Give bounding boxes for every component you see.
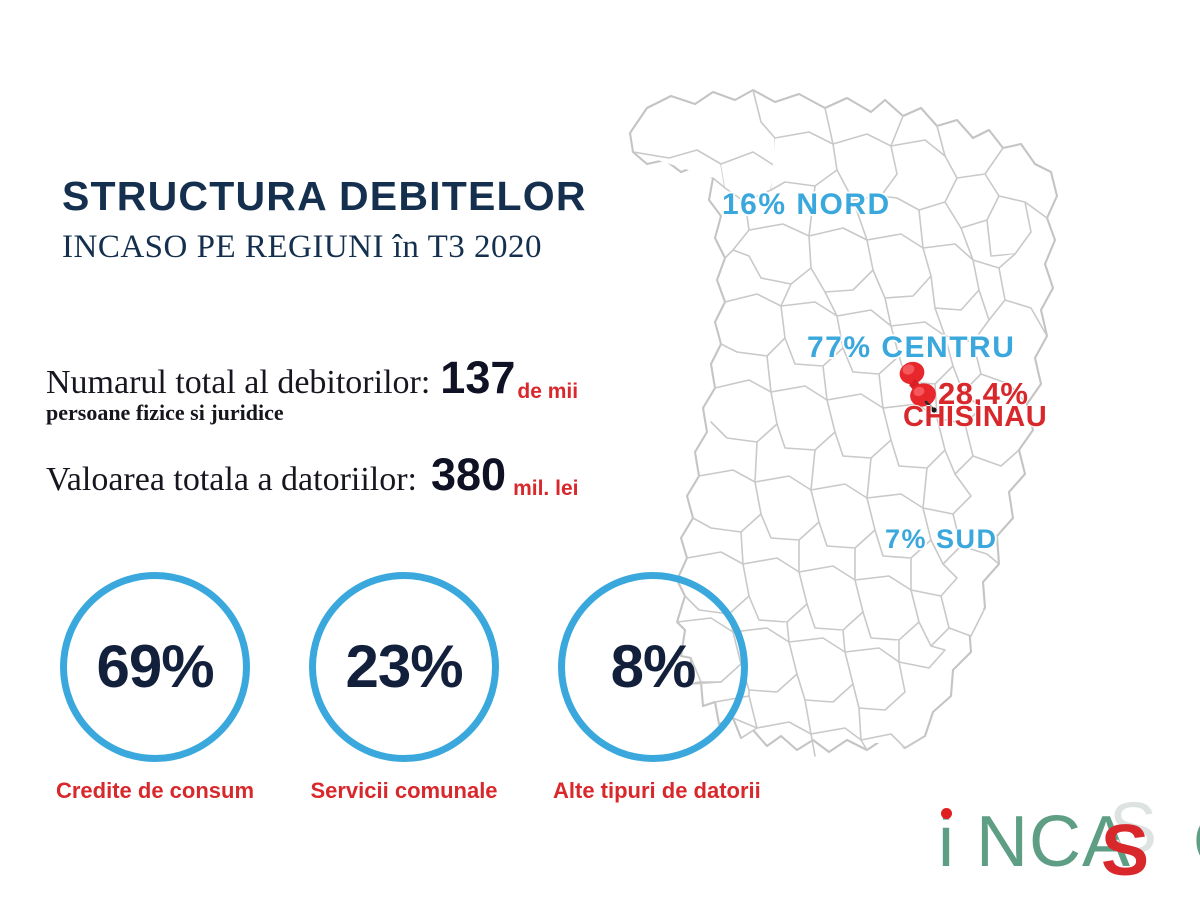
circle-percent: 23%	[345, 637, 462, 697]
map-label-nord: 16% NORD	[722, 188, 891, 222]
logo-inner: i NCAO S S	[938, 806, 1200, 878]
stat-line: Valoarea totala a datoriilor: 380 mil. l…	[46, 452, 578, 497]
stat-total-debt-value: Valoarea totala a datoriilor: 380 mil. l…	[46, 452, 578, 497]
page-title: STRUCTURA DEBITELOR	[62, 176, 587, 217]
title-block: STRUCTURA DEBITELOR INCASO PE REGIUNI în…	[62, 176, 587, 264]
stat-line: Numarul total al debitorilor: 137 de mii	[46, 355, 578, 400]
stat-subnote: persoane fizice si juridice	[46, 402, 578, 424]
circle-item: 23% Servicii comunale	[304, 572, 504, 802]
circle-item: 8% Alte tipuri de datorii	[553, 572, 753, 802]
circle-percent: 69%	[96, 637, 213, 697]
map-label-sud: 7% SUD	[885, 524, 998, 555]
incasso-logo: i NCAO S S	[938, 806, 1200, 886]
stat-unit: mil. lei	[513, 478, 578, 499]
stat-label: Valoarea totala a datoriilor:	[46, 463, 417, 497]
circle-percent: 8%	[611, 637, 696, 697]
map-label-chisinau-name: CHISINAU	[903, 404, 1047, 432]
stat-number: 137	[440, 355, 515, 400]
map-label-centru: 77% CENTRU	[807, 331, 1015, 365]
stat-label: Numarul total al debitorilor:	[46, 366, 430, 400]
logo-dot-icon	[941, 808, 952, 819]
circle-ring: 69%	[60, 572, 250, 762]
circle-item: 69% Credite de consum	[55, 572, 255, 802]
circle-ring: 23%	[309, 572, 499, 762]
stat-unit: de mii	[517, 381, 578, 402]
infographic-page: 16% NORD 77% CENTRU 7% SUD 28,4% CHISINA…	[0, 0, 1200, 900]
logo-letter-s-front: S	[1101, 815, 1149, 887]
circle-caption: Alte tipuri de datorii	[553, 780, 753, 802]
circle-caption: Credite de consum	[55, 780, 255, 802]
stat-total-debtors: Numarul total al debitorilor: 137 de mii…	[46, 355, 578, 424]
page-subtitle: INCASO PE REGIUNI în T3 2020	[62, 231, 587, 264]
percentage-circles: 69% Credite de consum 23% Servicii comun…	[55, 572, 775, 827]
circle-caption: Servicii comunale	[304, 780, 504, 802]
circle-ring: 8%	[558, 572, 748, 762]
logo-letter-i: i	[938, 802, 976, 882]
logo-letter-o: O	[1193, 802, 1200, 882]
stat-number: 380	[431, 452, 506, 497]
